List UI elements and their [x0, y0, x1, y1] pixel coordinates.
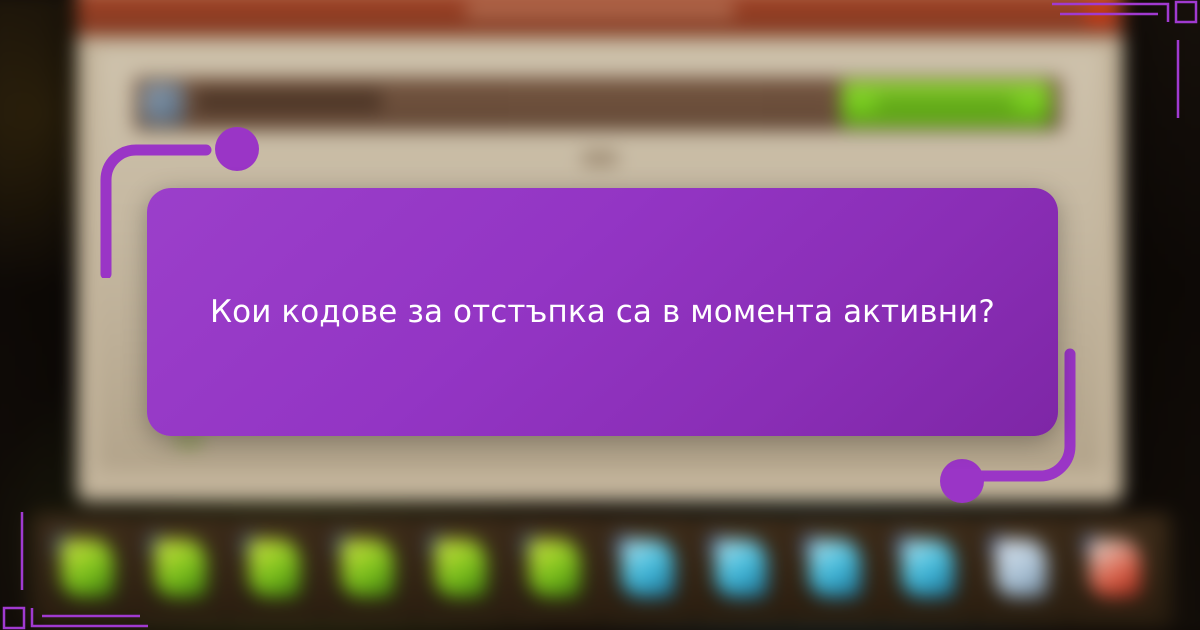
offer-label: [196, 89, 381, 112]
game-offer-row[interactable]: [134, 77, 1061, 131]
inventory-slot[interactable]: [232, 524, 317, 615]
buy-button-label: [876, 96, 1014, 112]
question-text: Кои кодове за отстъпка са в момента акти…: [203, 284, 1003, 340]
inventory-slot[interactable]: [325, 524, 410, 615]
screenshot-stage: Кои кодове за отстъпка са в момента акти…: [0, 0, 1200, 630]
gem-icon: [995, 540, 1047, 597]
inventory-slot[interactable]: [699, 524, 784, 615]
inventory-hotbar: [31, 514, 1170, 625]
inventory-slot[interactable]: [138, 524, 223, 615]
gem-icon: [715, 540, 767, 597]
game-window-title: [466, 1, 734, 19]
game-window-titlebar: [77, 0, 1123, 36]
gem-icon: [342, 540, 394, 597]
question-card: Кои кодове за отстъпка са в момента акти…: [147, 188, 1058, 436]
accent-dot: [940, 459, 984, 503]
item-icon: [143, 83, 184, 124]
inventory-slot[interactable]: [605, 524, 690, 615]
gem-icon: [528, 540, 580, 597]
inventory-slot[interactable]: [792, 524, 877, 615]
gem-icon: [435, 540, 487, 597]
inventory-slot[interactable]: [512, 524, 597, 615]
gem-icon: [61, 540, 113, 597]
gem-icon: [902, 540, 954, 597]
inventory-slot[interactable]: [885, 524, 970, 615]
close-icon[interactable]: [1086, 0, 1113, 24]
gem-icon: [155, 540, 207, 597]
buy-button[interactable]: [841, 81, 1051, 126]
inventory-slot[interactable]: [418, 524, 503, 615]
gem-icon: [248, 540, 300, 597]
accent-dot: [215, 127, 259, 171]
inventory-slot[interactable]: [45, 524, 130, 615]
game-window-subtext: [582, 151, 617, 165]
gem-icon: [809, 540, 861, 597]
inventory-slot[interactable]: [979, 524, 1064, 615]
gem-icon: [1089, 540, 1141, 597]
inventory-slot[interactable]: [1072, 524, 1157, 615]
gem-icon: [622, 540, 674, 597]
